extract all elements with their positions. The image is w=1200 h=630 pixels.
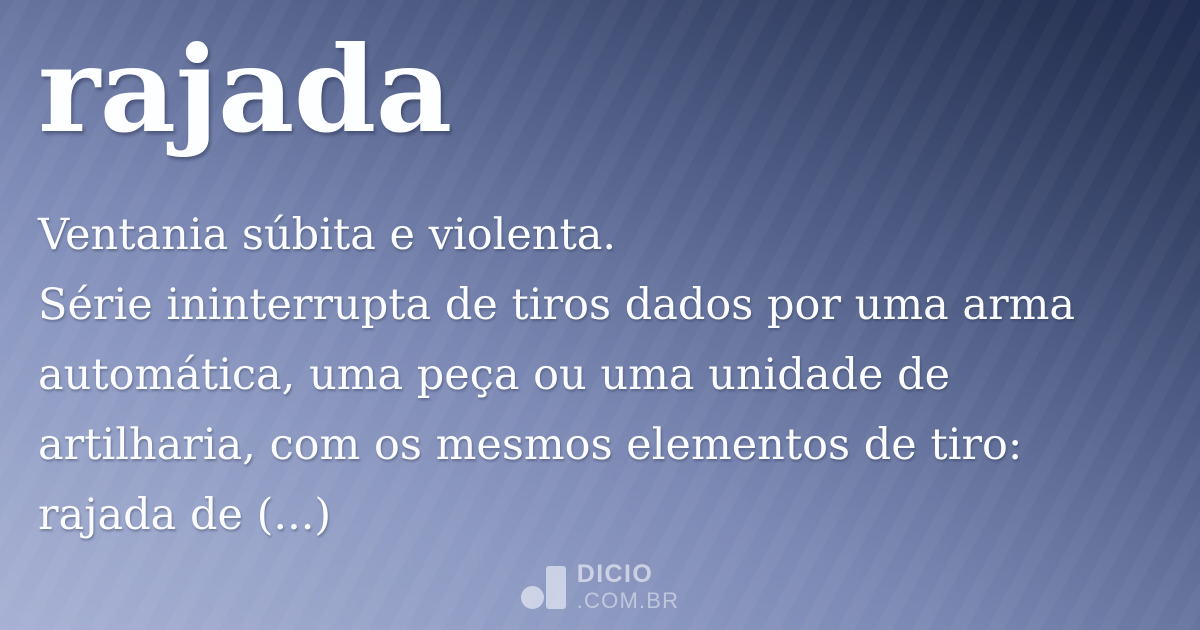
headword-title: rajada bbox=[38, 28, 452, 152]
dicio-logo: DICIO .COM.BR bbox=[0, 562, 1200, 612]
definition-line: Ventania súbita e violenta. bbox=[38, 200, 1158, 270]
definition-line: rajada de (...) bbox=[38, 480, 1158, 550]
logo-circle-shape bbox=[521, 586, 544, 609]
definition-line: Série ininterrupta de tiros dados por um… bbox=[38, 270, 1158, 340]
definition-line: artilharia, com os mesmos elementos de t… bbox=[38, 410, 1158, 480]
dictionary-share-card: rajada Ventania súbita e violenta. Série… bbox=[0, 0, 1200, 630]
definition-text: Ventania súbita e violenta. Série ininte… bbox=[38, 200, 1158, 550]
definition-line: automática, uma peça ou uma unidade de bbox=[38, 340, 1158, 410]
logo-brand-name: DICIO bbox=[577, 562, 680, 587]
logo-wordmark: DICIO .COM.BR bbox=[577, 562, 680, 612]
card-content: rajada Ventania súbita e violenta. Série… bbox=[0, 0, 1200, 630]
dicio-logo-mark-icon bbox=[521, 565, 566, 609]
logo-domain-suffix: .COM.BR bbox=[577, 590, 680, 612]
logo-bar-shape bbox=[546, 566, 566, 609]
